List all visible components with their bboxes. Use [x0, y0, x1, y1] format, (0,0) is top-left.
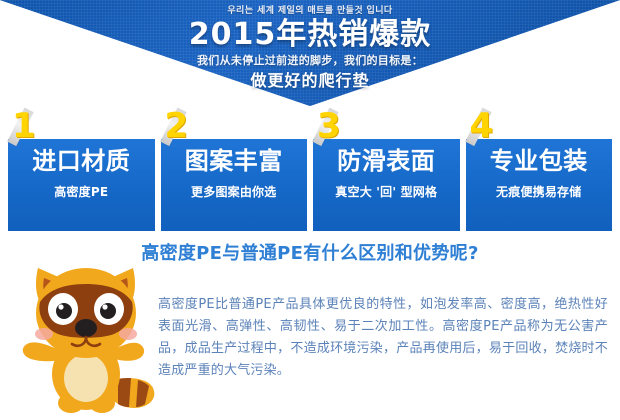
badge-ribbon-icon [312, 108, 338, 146]
number-badge-4: 4 [470, 106, 516, 146]
banner-content: 우리는 세계 제일의 매트를 만들것 입니다 2015年热销爆款 我们从未停止过… [0, 0, 620, 106]
badge-number-1: 1 [12, 106, 52, 146]
feature-title-2: 图案丰富 [185, 146, 283, 176]
banner-goal: 做更好的爬行垫 [250, 71, 369, 90]
hero-banner: 우리는 세계 제일의 매트를 만들것 입니다 2015年热销爆款 我们从未停止过… [0, 0, 620, 106]
banner-title: 2015年热销爆款 [189, 18, 432, 52]
promo-page: 우리는 세계 제일의 매트를 만들것 입니다 2015年热销爆款 我们从未停止过… [0, 0, 620, 420]
feature-title-1: 进口材质 [32, 146, 130, 176]
body-paragraph: 高密度PE比普通PE产品具体更优良的特性，如泡发率高、密度高，绝热性好表面光滑、… [158, 294, 608, 382]
badge-ribbon-icon [7, 108, 33, 146]
number-badge-2: 2 [165, 106, 211, 146]
feature-subtitle-4: 无痕便携易存储 [496, 185, 581, 200]
feature-card-4[interactable]: 4 专业包装 无痕便携易存储 [466, 139, 613, 231]
badge-number-3: 3 [317, 106, 357, 146]
raccoon-mascot-icon [14, 252, 160, 418]
badge-ribbon-icon [160, 108, 186, 146]
feature-subtitle-2: 更多图案由你选 [191, 185, 276, 200]
feature-subtitle-3: 真空大 '回' 型网格 [335, 185, 437, 200]
number-badge-1: 1 [12, 106, 58, 146]
feature-card-1[interactable]: 1 进口材质 高密度PE [8, 139, 155, 231]
badge-number-2: 2 [165, 106, 205, 146]
korean-tagline: 우리는 세계 제일의 매트를 만들것 입니다 [227, 6, 392, 17]
badge-ribbon-icon [465, 108, 491, 146]
feature-card-3[interactable]: 3 防滑表面 真空大 '回' 型网格 [313, 139, 460, 231]
feature-box-list: 1 进口材质 高密度PE 2 图案丰富 更多图案由你选 3 防滑表面 真空大 '… [8, 139, 612, 231]
feature-subtitle-1: 高密度PE [54, 185, 108, 200]
banner-subtitle: 我们从未停止过前进的脚步，我们的目标是： [197, 54, 423, 68]
feature-title-3: 防滑表面 [337, 146, 435, 176]
feature-title-4: 专业包装 [490, 146, 588, 176]
number-badge-3: 3 [317, 106, 363, 146]
badge-number-4: 4 [470, 106, 510, 146]
feature-card-2[interactable]: 2 图案丰富 更多图案由你选 [161, 139, 308, 231]
